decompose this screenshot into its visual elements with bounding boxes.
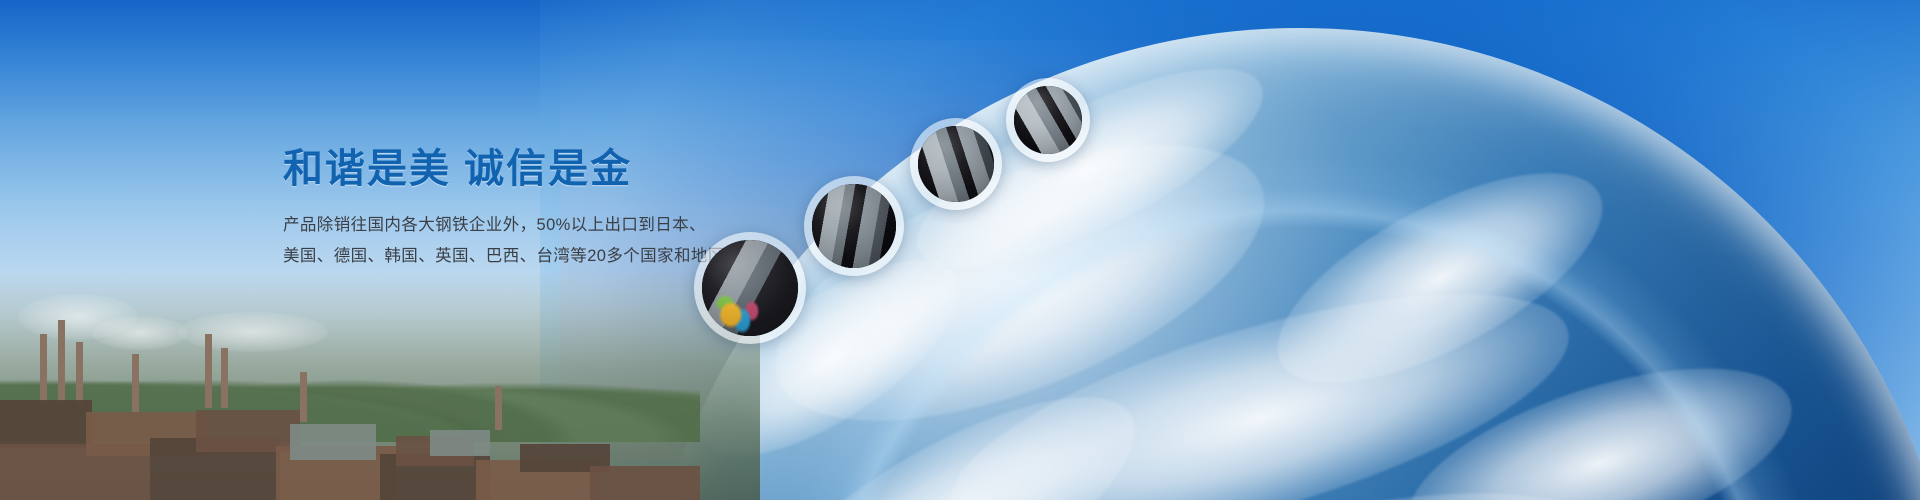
chimney xyxy=(221,348,228,408)
plant-building xyxy=(290,424,376,460)
chimney xyxy=(300,372,307,422)
ore-bubble-1[interactable] xyxy=(694,232,806,344)
plant-building xyxy=(430,430,490,456)
chimney xyxy=(132,354,139,412)
smoke-plume xyxy=(178,312,328,352)
ore-sample-gray-rock xyxy=(812,184,896,268)
plant-building xyxy=(590,466,700,500)
smoke-plume xyxy=(92,316,188,350)
chimney xyxy=(58,320,65,404)
chimney xyxy=(205,334,212,408)
ore-shading xyxy=(1014,86,1082,154)
ore-sample-split-rock xyxy=(918,126,994,202)
ore-bubble-4[interactable] xyxy=(1006,78,1090,162)
chimney xyxy=(495,386,502,430)
chimney xyxy=(40,334,47,404)
industrial-plant-silhouette xyxy=(0,300,700,500)
ore-shading xyxy=(812,184,896,268)
ore-shading xyxy=(702,240,798,336)
ore-sample-iridescent xyxy=(702,240,798,336)
hero-banner: 和谐是美 诚信是金 产品除销往国内各大钢铁企业外，50%以上出口到日本、 美国、… xyxy=(0,0,1920,500)
plant-building xyxy=(0,400,92,448)
ore-bubble-3[interactable] xyxy=(910,118,1002,210)
ore-bubble-2[interactable] xyxy=(804,176,904,276)
ore-shading xyxy=(918,126,994,202)
ore-sample-small-rock xyxy=(1014,86,1082,154)
chimney xyxy=(76,342,83,404)
